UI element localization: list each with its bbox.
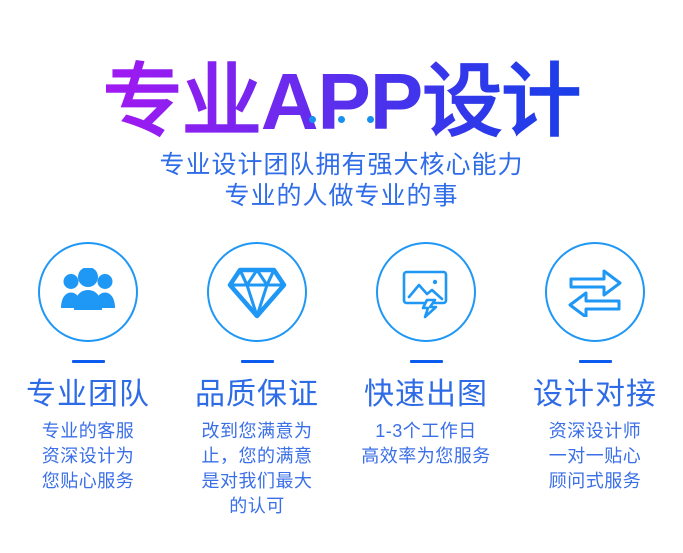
diamond-gem-icon-circle bbox=[207, 242, 307, 342]
feature-title: 品质保证 bbox=[177, 377, 337, 413]
feature-divider bbox=[579, 360, 612, 363]
subtitle-line-1: 专业设计团队拥有强大核心能力 bbox=[0, 150, 683, 181]
feature-description: 资深设计师 一对一贴心 顾问式服务 bbox=[515, 419, 675, 494]
dot-icon bbox=[367, 116, 374, 123]
exchange-arrows-icon bbox=[566, 267, 624, 317]
feature-divider bbox=[72, 360, 105, 363]
dots-separator bbox=[0, 116, 683, 123]
feature-desc-line: 的认可 bbox=[177, 494, 337, 519]
feature-title: 专业团队 bbox=[8, 377, 168, 413]
team-people-icon-circle bbox=[38, 242, 138, 342]
feature-desc-line: 资深设计为 bbox=[8, 444, 168, 469]
feature-desc-line: 一对一贴心 bbox=[515, 444, 675, 469]
image-lightning-icon-circle bbox=[376, 242, 476, 342]
feature-title: 设计对接 bbox=[515, 377, 675, 413]
feature-item-speed: 快速出图 1-3个工作日 高效率为您服务 bbox=[346, 242, 506, 519]
subtitle-block: 专业设计团队拥有强大核心能力 专业的人做专业的事 bbox=[0, 150, 683, 212]
feature-desc-line: 顾问式服务 bbox=[515, 469, 675, 494]
feature-divider bbox=[241, 360, 274, 363]
feature-desc-line: 是对我们最大 bbox=[177, 469, 337, 494]
feature-desc-line: 专业的客服 bbox=[8, 419, 168, 444]
dot-icon bbox=[309, 116, 316, 123]
feature-description: 1-3个工作日 高效率为您服务 bbox=[346, 419, 506, 469]
feature-desc-line: 改到您满意为 bbox=[177, 419, 337, 444]
dot-icon bbox=[338, 116, 345, 123]
subtitle-line-2: 专业的人做专业的事 bbox=[0, 181, 683, 212]
exchange-arrows-icon-circle bbox=[545, 242, 645, 342]
feature-desc-line: 1-3个工作日 bbox=[346, 419, 506, 444]
feature-item-team: 专业团队 专业的客服 资深设计为 您贴心服务 bbox=[8, 242, 168, 519]
feature-desc-line: 高效率为您服务 bbox=[346, 444, 506, 469]
diamond-gem-icon bbox=[227, 264, 287, 320]
promo-banner: 专业APP设计 专业设计团队拥有强大核心能力 专业的人做专业的事 bbox=[0, 0, 683, 553]
feature-item-handoff: 设计对接 资深设计师 一对一贴心 顾问式服务 bbox=[515, 242, 675, 519]
page-title: 专业APP设计 bbox=[103, 56, 581, 148]
team-people-icon bbox=[58, 268, 118, 316]
feature-desc-line: 资深设计师 bbox=[515, 419, 675, 444]
feature-desc-line: 止，您的满意 bbox=[177, 444, 337, 469]
feature-desc-line: 您贴心服务 bbox=[8, 469, 168, 494]
feature-divider bbox=[410, 360, 443, 363]
feature-title: 快速出图 bbox=[346, 377, 506, 413]
feature-description: 专业的客服 资深设计为 您贴心服务 bbox=[8, 419, 168, 494]
feature-description: 改到您满意为 止，您的满意 是对我们最大 的认可 bbox=[177, 419, 337, 519]
feature-list: 专业团队 专业的客服 资深设计为 您贴心服务 bbox=[0, 242, 683, 519]
image-lightning-icon bbox=[397, 265, 455, 319]
feature-item-quality: 品质保证 改到您满意为 止，您的满意 是对我们最大 的认可 bbox=[177, 242, 337, 519]
